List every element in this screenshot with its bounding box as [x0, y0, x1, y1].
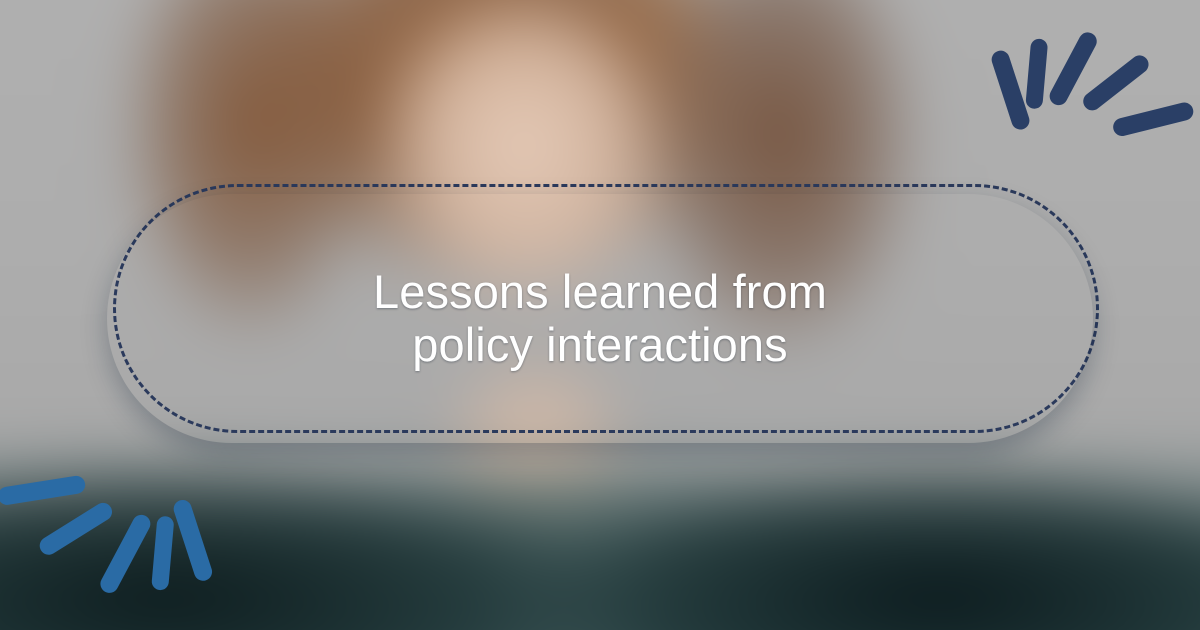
promo-banner: Lessons learned from policy interactions — [0, 0, 1200, 630]
page-title: Lessons learned from policy interactions — [373, 266, 827, 371]
headline-card: Lessons learned from policy interactions — [107, 194, 1093, 443]
